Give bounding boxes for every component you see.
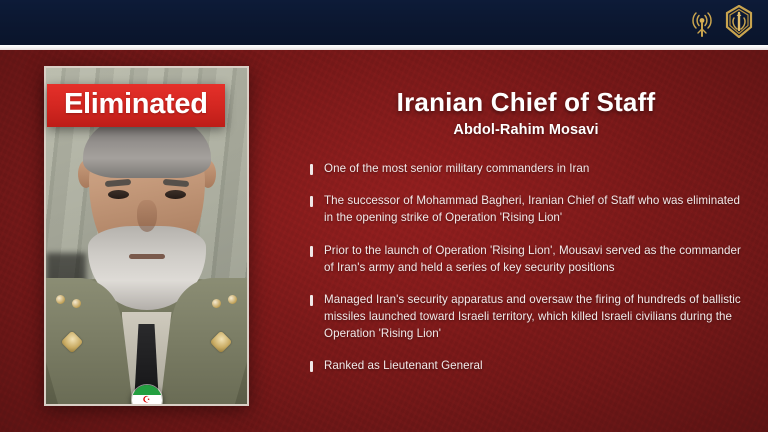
bullet-marker-icon bbox=[310, 164, 313, 175]
portrait-shoulder-pip-1 bbox=[56, 295, 65, 304]
bullet-marker-icon bbox=[310, 246, 313, 257]
portrait-shoulder-pip-3 bbox=[228, 295, 237, 304]
slide-root: ☪ Eliminated Iranian Chief of Staff Abdo… bbox=[0, 0, 768, 432]
flag-stripe-white: ☪ bbox=[132, 395, 162, 405]
status-badge: Eliminated bbox=[47, 84, 225, 127]
content-panel: Iranian Chief of Staff Abdol-Rahim Mosav… bbox=[300, 88, 752, 389]
portrait-shoulder-pip-4 bbox=[212, 299, 221, 308]
bullet-marker-icon bbox=[310, 295, 313, 306]
list-item-text: Managed Iran's security apparatus and ov… bbox=[324, 291, 752, 342]
list-item: The successor of Mohammad Bagheri, Irani… bbox=[300, 192, 752, 226]
header-divider bbox=[0, 45, 768, 50]
list-item: Ranked as Lieutenant General bbox=[300, 357, 752, 374]
iran-emblem-icon: ☪ bbox=[142, 396, 151, 405]
page-title: Iranian Chief of Staff bbox=[300, 88, 752, 116]
list-item-text: Ranked as Lieutenant General bbox=[324, 357, 483, 374]
status-badge-label: Eliminated bbox=[64, 90, 208, 119]
portrait-nose bbox=[137, 200, 157, 232]
page-subtitle: Abdol-Rahim Mosavi bbox=[300, 122, 752, 138]
portrait-mouth bbox=[129, 254, 165, 259]
bullet-list: One of the most senior military commande… bbox=[300, 160, 752, 374]
list-item-text: One of the most senior military commande… bbox=[324, 160, 589, 177]
header-logos bbox=[689, 5, 754, 43]
portrait-eye-right bbox=[165, 190, 186, 199]
bullet-marker-icon bbox=[310, 196, 313, 207]
bullet-marker-icon bbox=[310, 361, 313, 372]
list-item: Prior to the launch of Operation 'Rising… bbox=[300, 242, 752, 276]
list-item: One of the most senior military commande… bbox=[300, 160, 752, 177]
broadcast-icon bbox=[689, 7, 715, 42]
list-item-text: Prior to the launch of Operation 'Rising… bbox=[324, 242, 752, 276]
portrait-eye-left bbox=[108, 190, 129, 199]
idf-emblem-icon bbox=[724, 5, 754, 43]
list-item-text: The successor of Mohammad Bagheri, Irani… bbox=[324, 192, 752, 226]
flag-stripe-red bbox=[132, 405, 162, 406]
portrait-shoulder-pip-2 bbox=[72, 299, 81, 308]
header-bar bbox=[0, 0, 768, 45]
list-item: Managed Iran's security apparatus and ov… bbox=[300, 291, 752, 342]
